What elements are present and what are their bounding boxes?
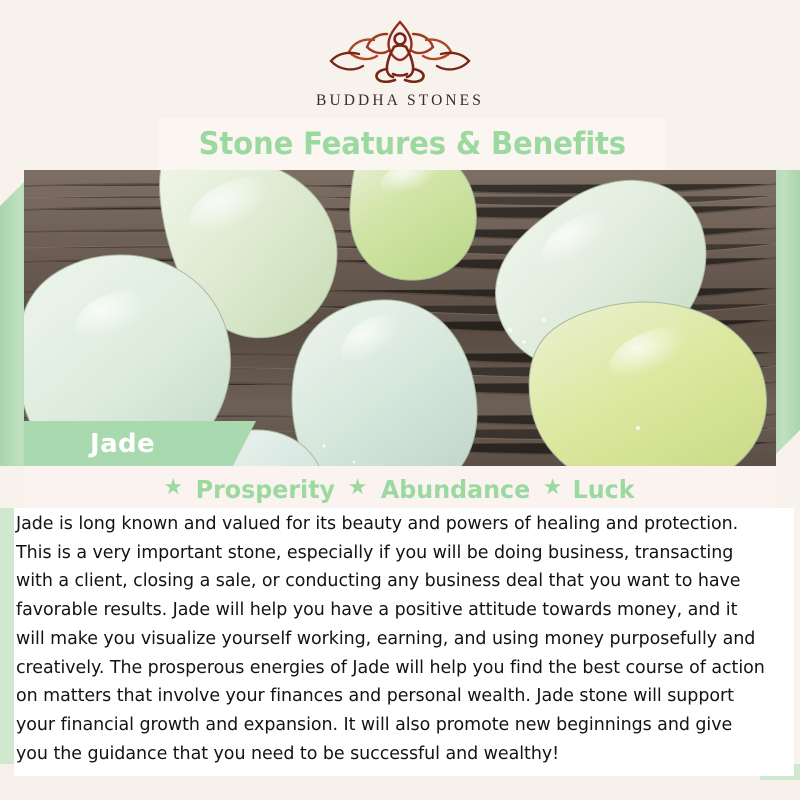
stone-name-label: Jade — [90, 429, 155, 459]
benefit-item-abundance: Abundance — [380, 475, 529, 504]
brand-name: BUDDHA STONES — [316, 92, 484, 110]
star-icon: ★ — [348, 477, 368, 499]
page-title: Stone Features & Benefits — [198, 126, 625, 162]
description-text: Jade is long known and valued for its be… — [16, 510, 767, 768]
star-icon: ★ — [163, 477, 183, 499]
benefit-item-prosperity: Prosperity — [196, 475, 335, 504]
stone-name-tag: Jade — [24, 421, 256, 466]
lotus-meditation-icon — [325, 14, 475, 86]
benefit-item-luck: Luck — [573, 475, 635, 504]
infographic-card: BUDDHA STONES — [0, 0, 800, 800]
benefits-list: ★ Prosperity ★ Abundance ★ Luck — [0, 472, 800, 506]
title-banner: Stone Features & Benefits — [158, 118, 666, 170]
star-icon: ★ — [543, 477, 563, 499]
brand-logo: BUDDHA STONES — [0, 14, 800, 110]
